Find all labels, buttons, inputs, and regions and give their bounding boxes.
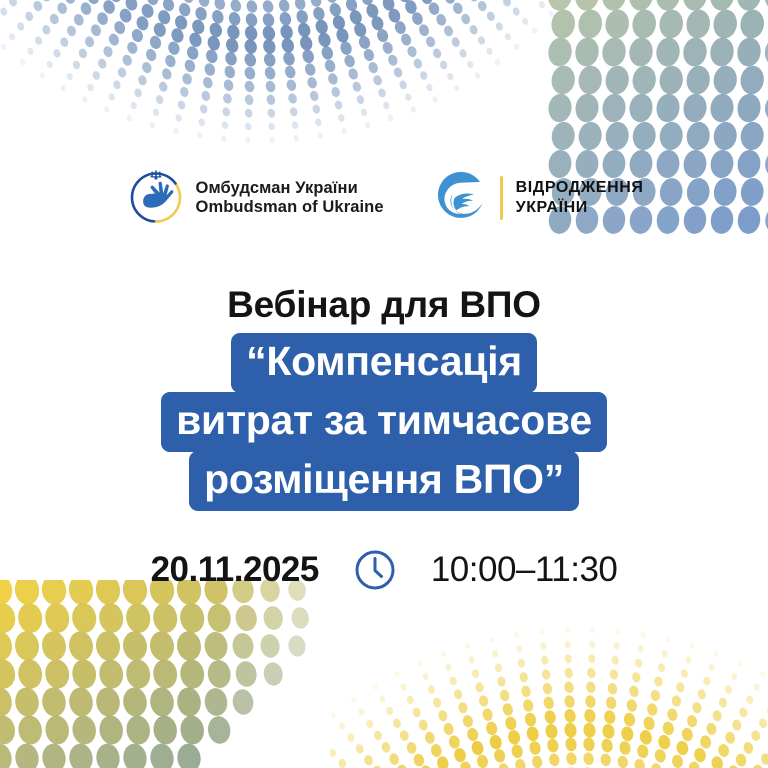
title-line-3: розміщення ВПО” — [189, 451, 579, 511]
clock-icon — [353, 548, 397, 592]
logo-divider — [500, 176, 503, 220]
poster-title: “Компенсація витрат за тимчасове розміще… — [0, 333, 768, 510]
title-line-1: “Компенсація — [231, 333, 537, 393]
vidrodzhennya-logo-text: ВІДРОДЖЕННЯ УКРАЇНИ — [516, 178, 644, 218]
ombudsman-name-en: Ombudsman of Ukraine — [196, 198, 384, 217]
vidrodzhennya-line1: ВІДРОДЖЕННЯ — [516, 178, 644, 198]
ombudsman-emblem-icon — [125, 167, 187, 229]
bird-swoosh-icon — [432, 169, 490, 227]
ombudsman-name-uk: Омбудсман України — [196, 179, 384, 198]
event-meta-row: 20.11.2025 10:00–11:30 — [0, 548, 768, 592]
event-date: 20.11.2025 — [151, 550, 319, 590]
logo-row: Омбудсман України Ombudsman of Ukraine В… — [0, 160, 768, 236]
vidrodzhennya-line2: УКРАЇНИ — [516, 198, 644, 218]
title-line-2: витрат за тимчасове — [161, 392, 607, 452]
webinar-poster: Омбудсман України Ombudsman of Ukraine В… — [0, 0, 768, 768]
ombudsman-logo-text: Омбудсман України Ombudsman of Ukraine — [196, 179, 384, 217]
ombudsman-logo: Омбудсман України Ombudsman of Ukraine — [125, 167, 384, 229]
vidrodzhennya-logo: ВІДРОДЖЕННЯ УКРАЇНИ — [432, 169, 644, 227]
poster-headline: Вебінар для ВПО — [0, 284, 768, 326]
decorative-dots-bottom-left — [0, 580, 320, 768]
event-time: 10:00–11:30 — [431, 550, 618, 590]
